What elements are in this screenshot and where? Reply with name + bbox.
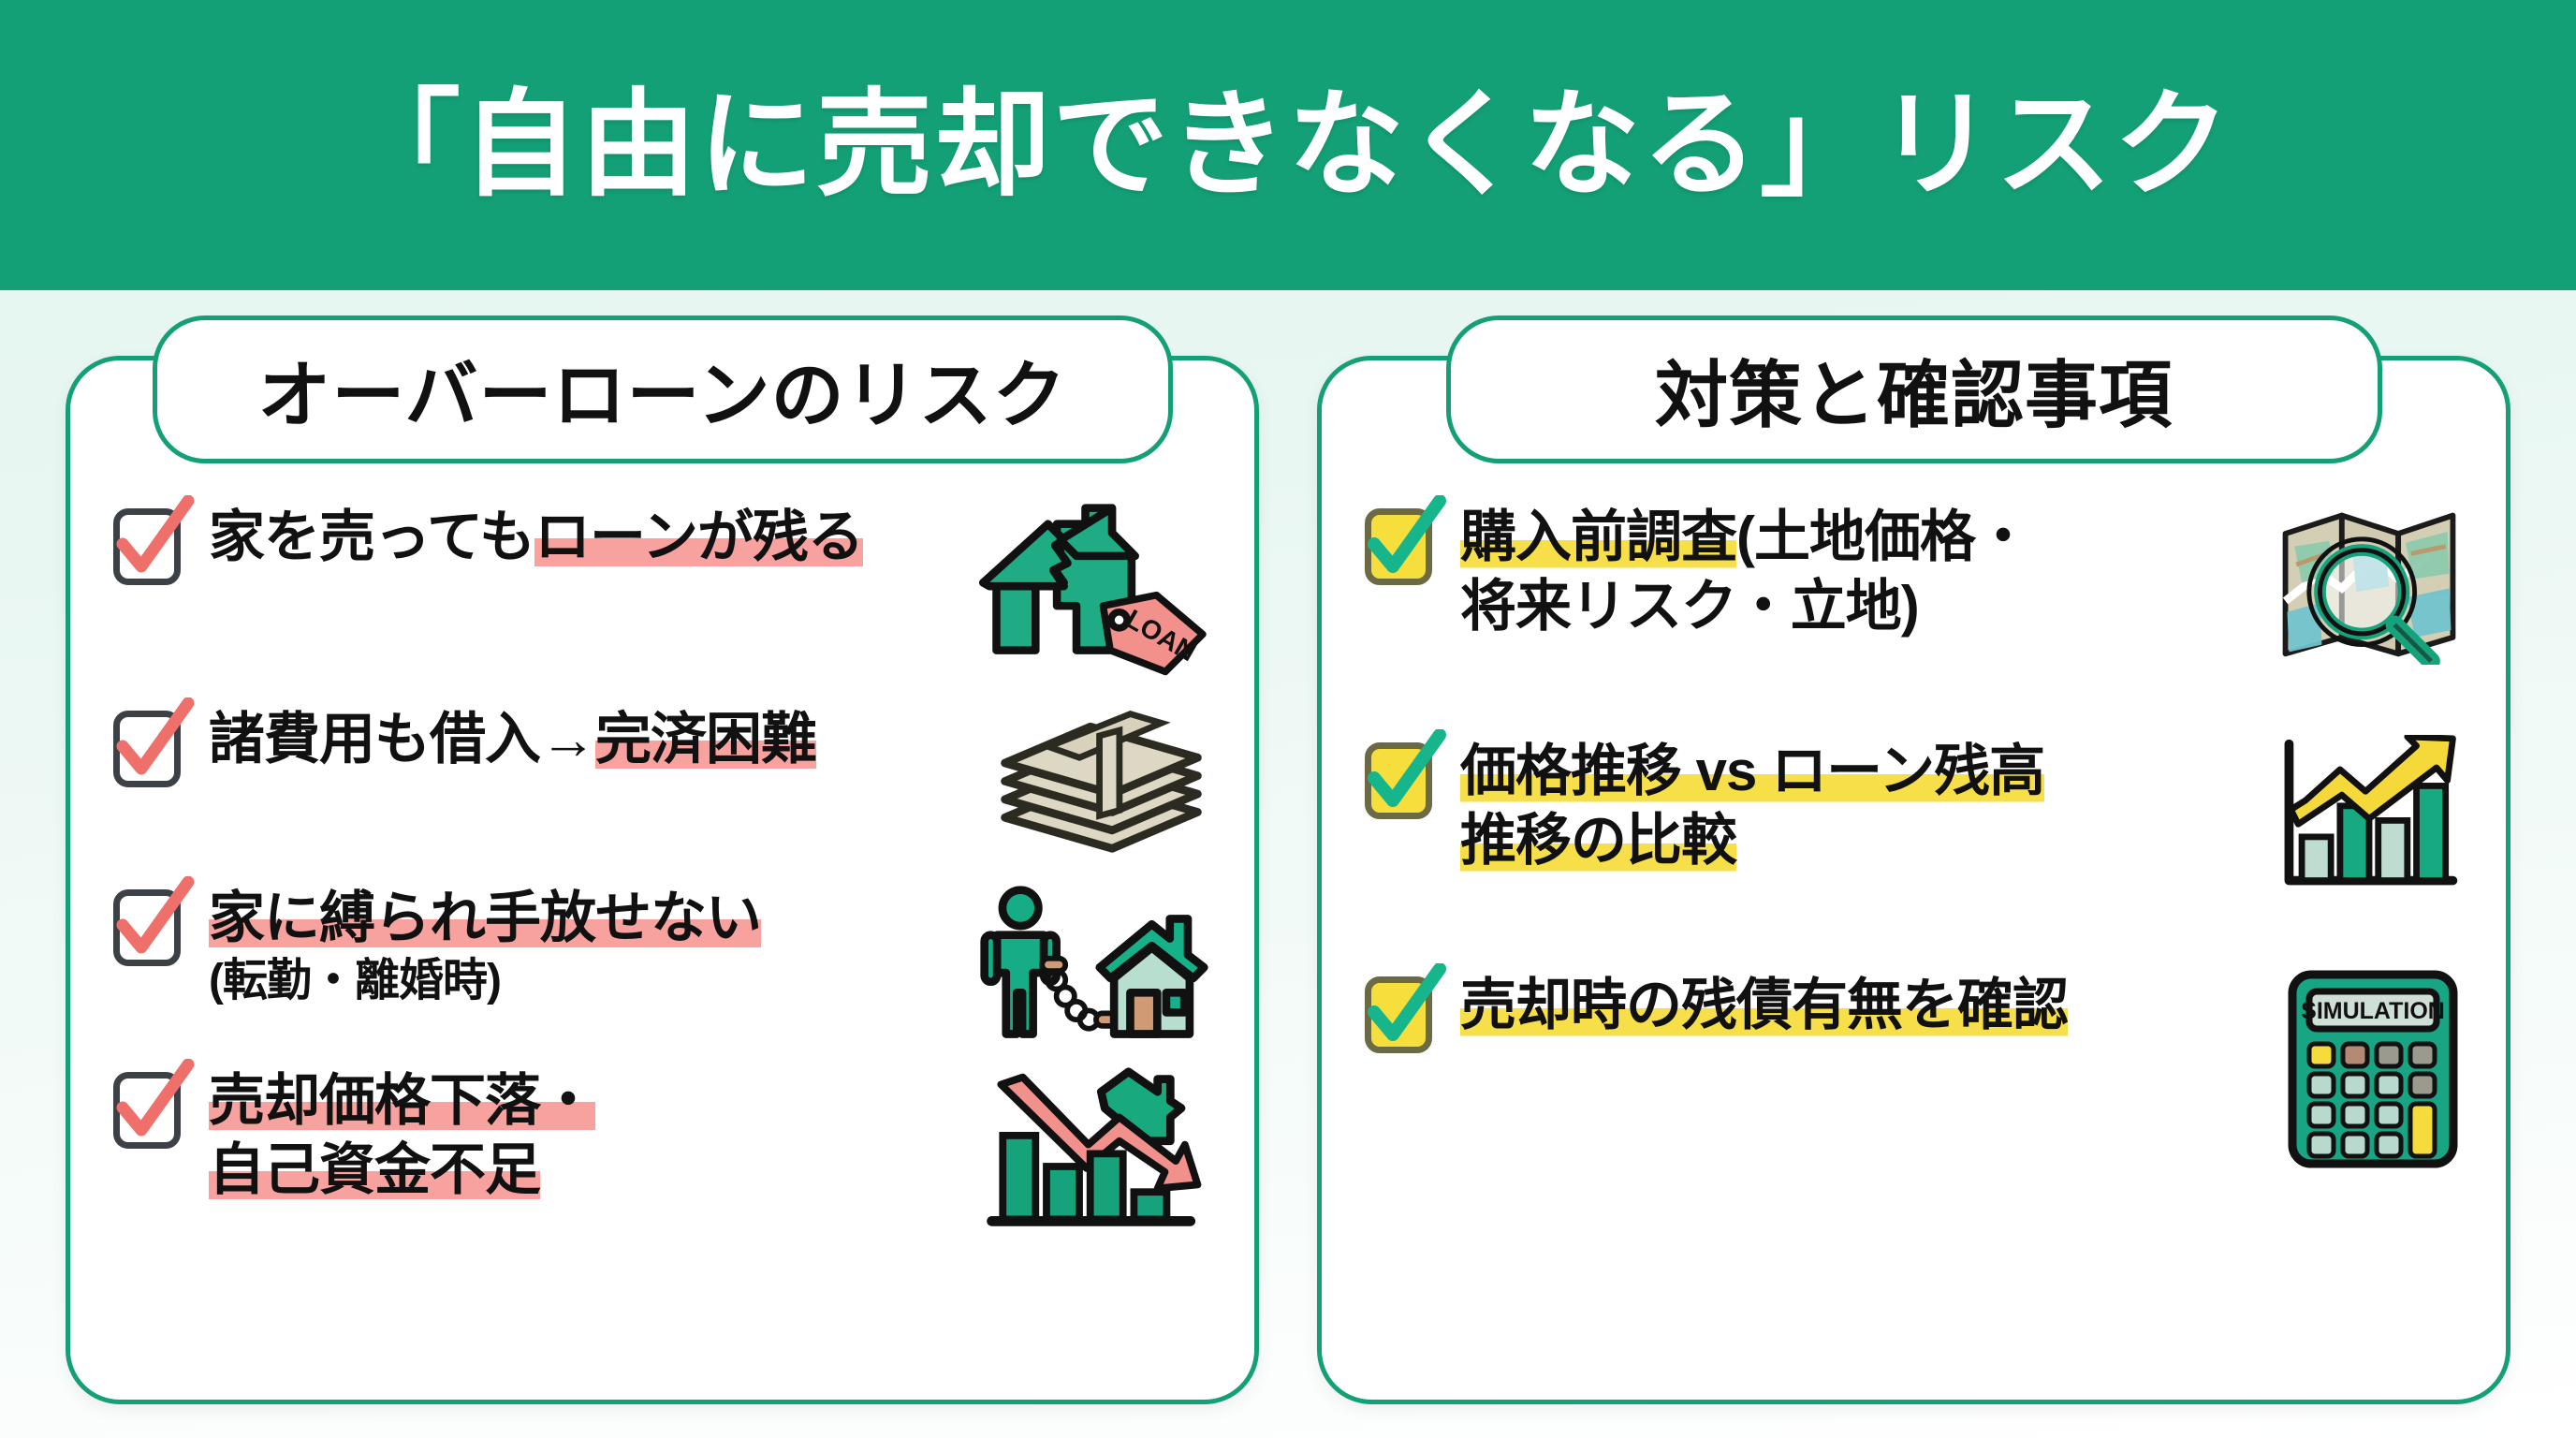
risk-item-list: 家を売ってもローンが残る bbox=[113, 501, 1211, 1233]
highlighted-text: 売却価格下落・ bbox=[209, 1069, 595, 1132]
list-item[interactable]: 売却価格下落・ 自己資金不足 bbox=[113, 1064, 1211, 1233]
check-icon bbox=[110, 876, 199, 970]
money-stack-icon bbox=[991, 703, 1211, 858]
list-item[interactable]: 家を売ってもローンが残る bbox=[113, 501, 1211, 679]
item-subline: (転勤・離婚時) bbox=[209, 953, 977, 1009]
item-line: 推移の比較 bbox=[1460, 806, 2276, 875]
item-text: 価格推移 vs ローン残高 推移の比較 bbox=[1432, 735, 2276, 876]
plain-text: 家を売っても bbox=[209, 506, 534, 568]
rising-bar-chart-icon bbox=[2276, 735, 2463, 899]
highlighted-text: 購入前調査 bbox=[1460, 506, 1736, 568]
list-item[interactable]: 売却時の残債有無を確認 SIMULATION bbox=[1365, 969, 2463, 1170]
checkbox-green-check[interactable] bbox=[1365, 508, 1432, 585]
highlighted-text: 売却時の残債有無を確認 bbox=[1460, 974, 2068, 1036]
highlighted-text: 推移の比較 bbox=[1460, 809, 1736, 872]
page-header: 「自由に売却できなくなる」リスク bbox=[0, 0, 2576, 290]
item-text: 売却時の残債有無を確認 bbox=[1432, 969, 2285, 1040]
card-overloan-risk: オーバーローンのリスク 家を売ってもローンが残る bbox=[66, 356, 1259, 1404]
cracked-house-loan-tag-icon: LOAN bbox=[977, 501, 1211, 679]
checkbox-red-check[interactable] bbox=[113, 711, 181, 787]
declining-chart-house-icon bbox=[982, 1064, 1211, 1233]
check-icon bbox=[110, 495, 199, 589]
checkbox-red-check[interactable] bbox=[113, 508, 181, 585]
checkbox-green-check[interactable] bbox=[1365, 742, 1432, 819]
plain-text: (土地価格・ bbox=[1736, 506, 2030, 568]
card-title: オーバーローンのリスク bbox=[257, 337, 1066, 442]
check-icon bbox=[110, 697, 199, 791]
checkbox-red-check[interactable] bbox=[113, 1072, 181, 1149]
check-icon bbox=[1361, 495, 1451, 589]
calculator-simulation-icon: SIMULATION bbox=[2285, 969, 2463, 1170]
item-line: 売却時の残債有無を確認 bbox=[1460, 971, 2285, 1040]
checkbox-red-check[interactable] bbox=[113, 889, 181, 966]
card-title: 対策と確認事項 bbox=[1655, 337, 2173, 442]
item-line: 家に縛られ手放せない bbox=[209, 884, 977, 953]
page-title: 「自由に売却できなくなる」リスク bbox=[344, 87, 2232, 203]
highlighted-text: 完済困難 bbox=[595, 708, 816, 770]
cards-container: オーバーローンのリスク 家を売ってもローンが残る bbox=[0, 356, 2576, 1404]
highlighted-text: 家に縛られ手放せない bbox=[209, 887, 761, 949]
list-item[interactable]: 価格推移 vs ローン残高 推移の比較 bbox=[1365, 735, 2463, 932]
item-line: 購入前調査(土地価格・ bbox=[1460, 503, 2276, 572]
map-magnifier-icon bbox=[2276, 501, 2463, 665]
item-line: 家を売ってもローンが残る bbox=[209, 503, 977, 572]
calculator-display-label: SIMULATION bbox=[2301, 998, 2445, 1024]
item-text: 家を売ってもローンが残る bbox=[181, 501, 977, 572]
item-line: 自己資金不足 bbox=[209, 1136, 982, 1205]
check-icon bbox=[1361, 963, 1451, 1057]
check-icon bbox=[110, 1059, 199, 1152]
item-line: 売却価格下落・ bbox=[209, 1066, 982, 1136]
check-icon bbox=[1361, 729, 1451, 823]
person-chained-to-house-icon bbox=[977, 882, 1211, 1046]
plain-text: 諸費用も借入→ bbox=[209, 708, 595, 770]
item-line: 将来リスク・立地) bbox=[1460, 572, 2276, 641]
highlighted-text: 自己資金不足 bbox=[209, 1138, 540, 1201]
checkbox-green-check[interactable] bbox=[1365, 976, 1432, 1053]
item-text: 諸費用も借入→完済困難 bbox=[181, 703, 991, 774]
item-text: 購入前調査(土地価格・ 将来リスク・立地) bbox=[1432, 501, 2276, 642]
card-header-overloan-risk: オーバーローンのリスク bbox=[153, 315, 1173, 463]
item-text: 家に縛られ手放せない (転勤・離婚時) bbox=[181, 882, 977, 1009]
card-countermeasures: 対策と確認事項 購入前調査(土地価格・ 将来リスク・立地) bbox=[1317, 356, 2510, 1404]
item-line: 諸費用も借入→完済困難 bbox=[209, 705, 991, 774]
highlighted-text: ローンが残る bbox=[534, 506, 863, 568]
item-line: 価格推移 vs ローン残高 bbox=[1460, 737, 2276, 806]
list-item[interactable]: 諸費用も借入→完済困難 bbox=[113, 703, 1211, 858]
list-item[interactable]: 購入前調査(土地価格・ 将来リスク・立地) bbox=[1365, 501, 2463, 697]
item-text: 売却価格下落・ 自己資金不足 bbox=[181, 1064, 982, 1206]
list-item[interactable]: 家に縛られ手放せない (転勤・離婚時) bbox=[113, 882, 1211, 1046]
highlighted-text: 価格推移 vs ローン残高 bbox=[1460, 740, 2044, 802]
card-header-countermeasures: 対策と確認事項 bbox=[1446, 315, 2382, 463]
countermeasure-item-list: 購入前調査(土地価格・ 将来リスク・立地) bbox=[1365, 501, 2463, 1170]
